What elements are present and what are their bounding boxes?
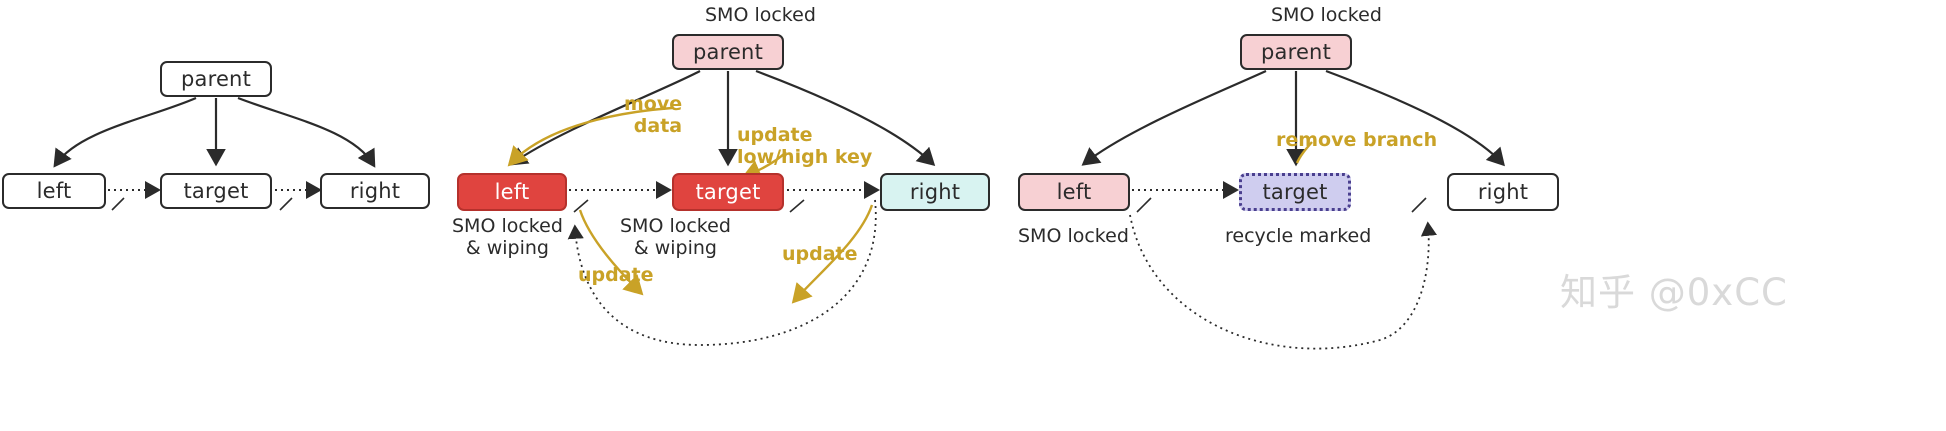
caption-panel2-target: SMO locked & wiping bbox=[620, 215, 731, 260]
caption-panel2-parent: SMO locked bbox=[705, 4, 816, 26]
node-panel3-left[interactable]: left bbox=[1018, 173, 1130, 211]
caption-panel2-left: SMO locked & wiping bbox=[452, 215, 563, 260]
label-panel2-update-right: update bbox=[782, 243, 858, 265]
node-panel1-left[interactable]: left bbox=[2, 173, 106, 209]
edges-layer bbox=[0, 0, 1946, 431]
caption-panel3-target: recycle marked bbox=[1225, 225, 1371, 247]
node-panel1-parent[interactable]: parent bbox=[160, 61, 272, 97]
node-panel2-right[interactable]: right bbox=[880, 173, 990, 211]
diagram-canvas: parent left target right parent left tar… bbox=[0, 0, 1946, 431]
node-panel1-right[interactable]: right bbox=[320, 173, 430, 209]
caption-panel3-parent: SMO locked bbox=[1271, 4, 1382, 26]
label-panel3-remove-branch: remove branch bbox=[1276, 129, 1437, 151]
node-panel3-right[interactable]: right bbox=[1447, 173, 1559, 211]
caption-panel3-left: SMO locked bbox=[1018, 225, 1129, 247]
watermark: 知乎 @0xCC bbox=[1560, 262, 1788, 316]
node-panel3-target[interactable]: target bbox=[1239, 173, 1351, 211]
node-panel1-target[interactable]: target bbox=[160, 173, 272, 209]
label-panel2-move-data: move data bbox=[624, 93, 682, 138]
node-panel2-left[interactable]: left bbox=[457, 173, 567, 211]
node-panel3-parent[interactable]: parent bbox=[1240, 34, 1352, 70]
label-panel2-update-key: update low/high key bbox=[737, 124, 872, 169]
node-panel2-target[interactable]: target bbox=[672, 173, 784, 211]
label-panel2-update-left: update bbox=[578, 264, 654, 286]
node-panel2-parent[interactable]: parent bbox=[672, 34, 784, 70]
